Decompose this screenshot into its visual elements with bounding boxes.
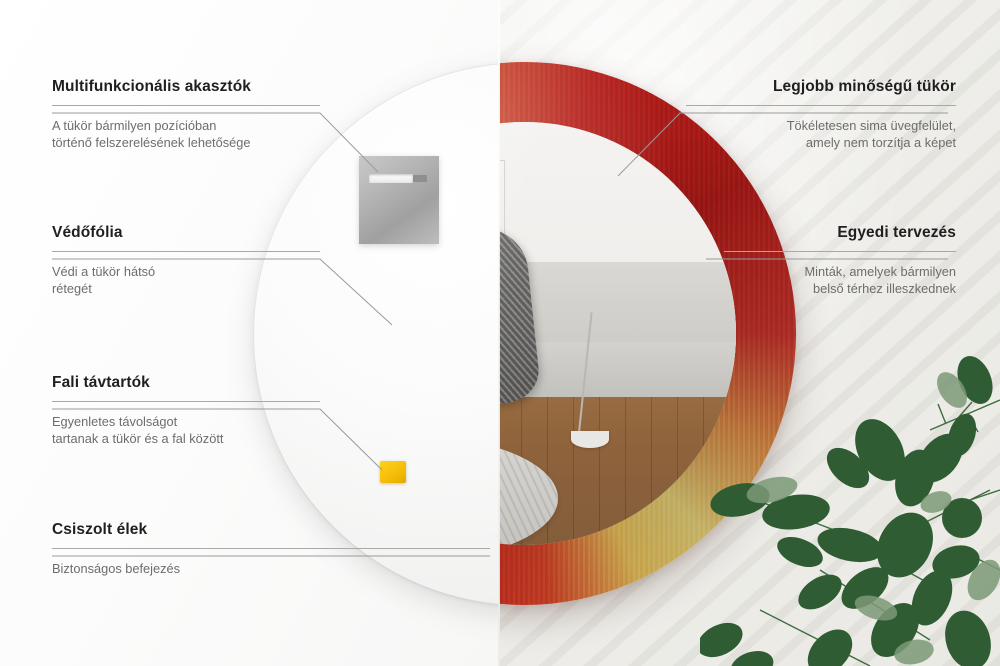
callout-rule — [686, 105, 956, 106]
callout-description: Tökéletesen sima üvegfelület, amely nem … — [686, 117, 956, 151]
infographic-canvas: Multifunkcionális akasztók A tükör bármi… — [0, 0, 1000, 666]
hanger-bracket — [359, 156, 439, 244]
callout-rule — [52, 401, 320, 402]
callout-rule — [724, 251, 956, 252]
hanger-slot-shadow — [413, 175, 427, 182]
callout-wall-spacers: Fali távtartók Egyenletes távolságot tar… — [52, 374, 320, 447]
panel-divider — [498, 0, 500, 666]
callout-protective-film: Védőfólia Védi a tükör hátsó rétegét — [52, 224, 320, 297]
mirror-glass — [499, 122, 736, 545]
callout-rule — [52, 548, 490, 549]
reflected-lamp-shade — [571, 431, 609, 448]
callout-best-quality-mirror: Legjobb minőségű tükör Tökéletesen sima … — [686, 78, 956, 151]
callout-title: Multifunkcionális akasztók — [52, 78, 320, 96]
callout-title: Védőfólia — [52, 224, 320, 242]
hanger-keyhole-slot — [369, 174, 413, 183]
yellow-spacer — [380, 461, 406, 483]
callout-rule — [52, 105, 320, 106]
callout-polished-edges: Csiszolt élek Biztonságos befejezés — [52, 521, 490, 577]
callout-description: Egyenletes távolságot tartanak a tükör é… — [52, 413, 320, 447]
callout-description: Minták, amelyek bármilyen belső térhez i… — [724, 263, 956, 297]
callout-title: Egyedi tervezés — [724, 224, 956, 242]
callout-description: Biztonságos befejezés — [52, 560, 490, 577]
callout-unique-design: Egyedi tervezés Minták, amelyek bármilye… — [724, 224, 956, 297]
callout-title: Legjobb minőségű tükör — [686, 78, 956, 96]
callout-multifunctional-hangers: Multifunkcionális akasztók A tükör bármi… — [52, 78, 320, 151]
callout-rule — [52, 251, 320, 252]
callout-title: Csiszolt élek — [52, 521, 490, 539]
callout-description: Védi a tükör hátsó rétegét — [52, 263, 320, 297]
callout-description: A tükör bármilyen pozícióban történő fel… — [52, 117, 320, 151]
callout-title: Fali távtartók — [52, 374, 320, 392]
